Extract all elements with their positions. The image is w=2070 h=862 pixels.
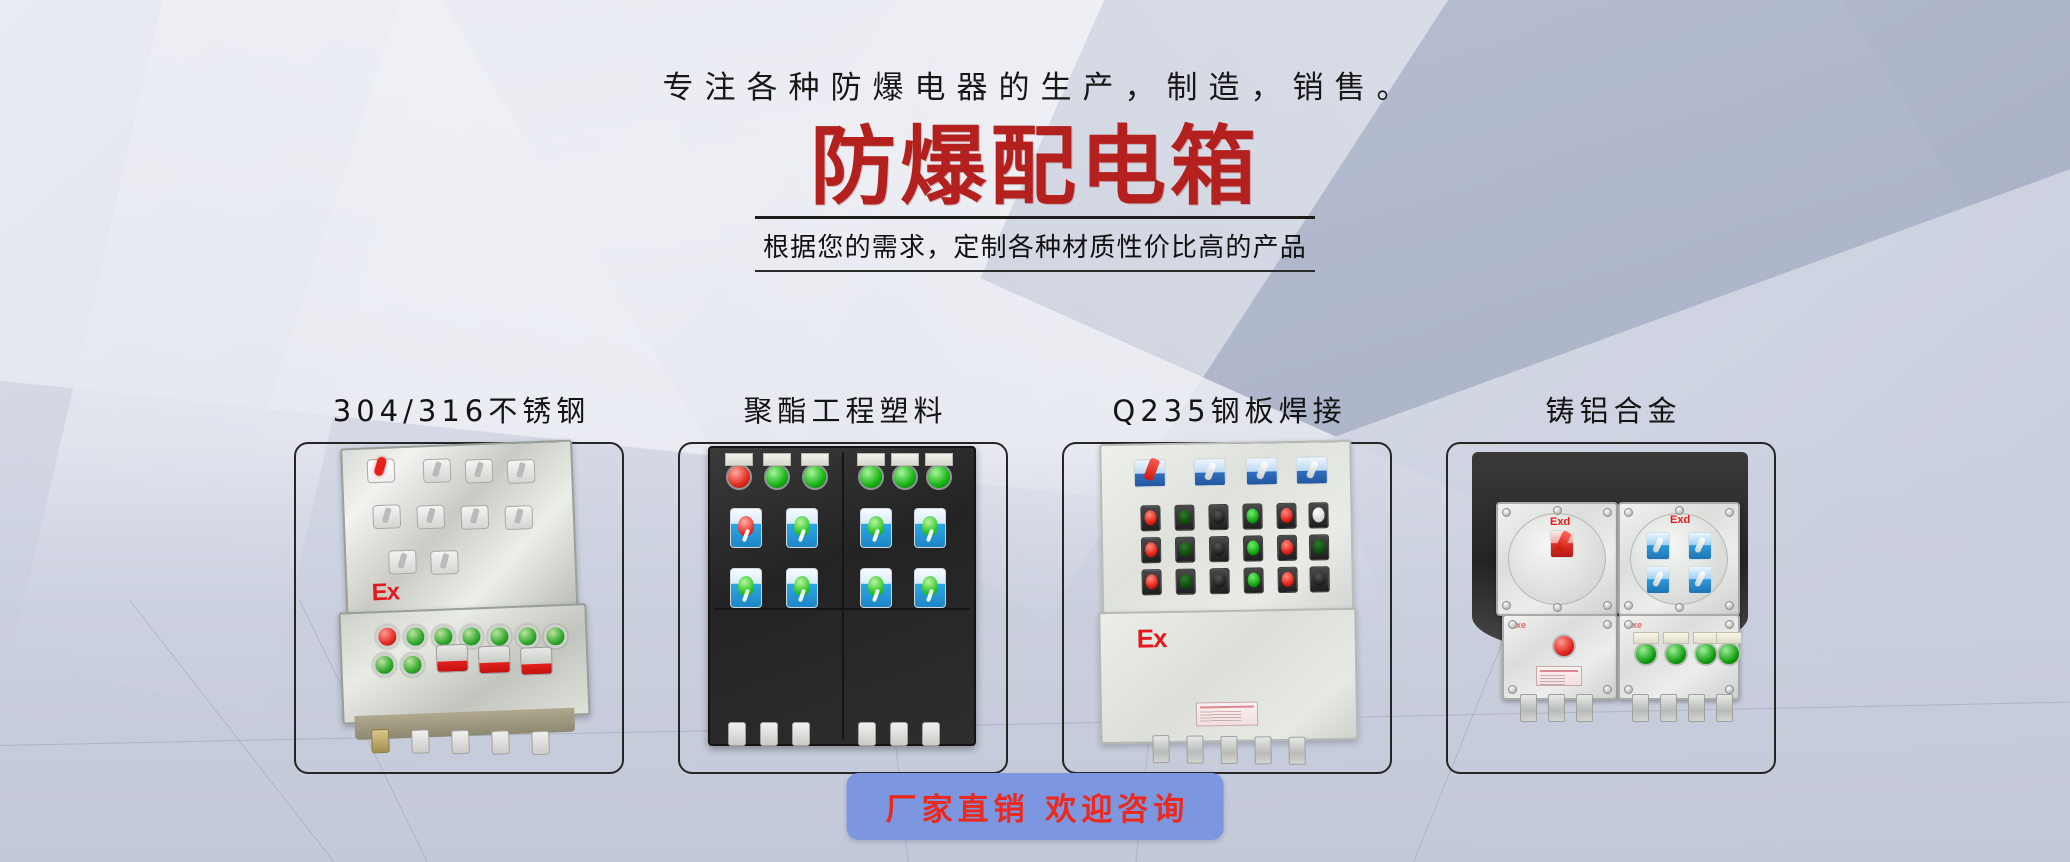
cable-gland xyxy=(531,731,550,756)
switch-plate xyxy=(730,568,762,608)
indicator-lamp xyxy=(726,464,752,490)
rotary-switch-emergency xyxy=(367,458,396,483)
push-button xyxy=(1308,502,1328,528)
rating-nameplate xyxy=(1536,666,1582,686)
subtitle: 根据您的需求，定制各种材质性价比高的产品 xyxy=(755,219,1315,270)
push-button xyxy=(1243,567,1263,593)
push-button xyxy=(1242,503,1262,529)
cta-button[interactable]: 厂家直销 欢迎咨询 xyxy=(847,773,1224,840)
cable-gland xyxy=(1186,735,1203,763)
cable-gland xyxy=(1152,735,1169,763)
switch-plate xyxy=(860,508,892,548)
enclosure-vertical-seam xyxy=(842,452,844,740)
product-photo-frame: Ex xyxy=(294,442,624,774)
cable-gland xyxy=(760,722,778,746)
cable-gland xyxy=(371,729,390,754)
rotary-switch xyxy=(504,505,533,530)
cable-gland xyxy=(792,722,810,746)
rotary-switch xyxy=(372,504,401,529)
rotary-switch xyxy=(460,505,489,530)
product-photo-frame: Exd Exd xyxy=(1446,442,1776,774)
push-button xyxy=(1141,569,1161,595)
rotary-switch xyxy=(507,459,536,484)
product-photo-q235-steel: Ex xyxy=(1070,438,1384,766)
push-button xyxy=(1277,535,1297,561)
push-button xyxy=(1175,569,1195,595)
push-button xyxy=(1309,566,1329,592)
push-button xyxy=(1140,505,1160,531)
rotary-switch xyxy=(1246,457,1278,486)
indicator-lamp xyxy=(1634,642,1658,666)
product-photo-cast-aluminium: Exd Exd xyxy=(1454,438,1768,766)
rotary-switch xyxy=(416,504,445,529)
cable-gland xyxy=(1288,737,1305,765)
push-button xyxy=(1309,534,1329,560)
page-title: 防爆配电箱 xyxy=(0,120,2070,215)
cable-gland xyxy=(890,722,908,746)
indicator-lamp xyxy=(1552,634,1576,658)
meter-gauge xyxy=(520,646,553,675)
cable-gland xyxy=(1688,694,1705,722)
rotary-switch xyxy=(465,459,494,484)
rotary-switch xyxy=(1646,566,1670,594)
enclosure-module-exd-right: Exd xyxy=(1618,502,1740,616)
push-button xyxy=(1208,504,1228,530)
cable-gland xyxy=(1660,694,1677,722)
product-card-polyester-plastic[interactable]: 聚酯工程塑料 xyxy=(678,388,1008,774)
rotary-switch xyxy=(1688,532,1712,560)
product-label: 聚酯工程塑料 xyxy=(678,388,1008,430)
indicator-lamp xyxy=(892,464,918,490)
enclosure-module-exe-right: Exe xyxy=(1618,614,1740,700)
product-photo-stainless-steel: Ex xyxy=(302,438,616,766)
enclosure-module-exe-left: Exe xyxy=(1502,614,1618,700)
indicator-lamp xyxy=(858,464,884,490)
rotary-switch xyxy=(430,550,459,575)
cable-gland xyxy=(1220,736,1237,764)
product-label: Q235钢板焊接 xyxy=(1062,388,1392,430)
exd-mark: Exd xyxy=(1670,514,1690,526)
product-card-cast-aluminium[interactable]: 铸铝合金 Exd xyxy=(1446,388,1776,774)
switch-plate xyxy=(914,568,946,608)
cable-gland xyxy=(1548,694,1565,722)
push-button xyxy=(1277,567,1297,593)
push-button xyxy=(1209,568,1229,594)
product-card-row: 304/316不锈钢 Ex xyxy=(0,388,2070,774)
product-photo-polyester-plastic xyxy=(686,438,1000,766)
round-cover xyxy=(1630,513,1728,605)
meter-gauge xyxy=(436,644,469,673)
rotary-switch-emergency xyxy=(1134,459,1166,488)
promo-banner: 专注各种防爆电器的生产，制造，销售。 防爆配电箱 根据您的需求，定制各种材质性价… xyxy=(0,0,2070,862)
cable-gland xyxy=(491,730,510,755)
rotary-switch xyxy=(388,550,417,575)
product-photo-frame: Ex xyxy=(1062,442,1392,774)
rotary-switch-emergency xyxy=(1550,530,1574,558)
switch-plate xyxy=(786,568,818,608)
exd-mark: Exd xyxy=(1550,516,1570,528)
indicator-lamp xyxy=(764,464,790,490)
push-button xyxy=(1209,536,1229,562)
subtitle-rule-bottom xyxy=(755,270,1315,272)
switch-plate xyxy=(730,508,762,548)
cable-gland xyxy=(1520,694,1537,722)
rotary-switch xyxy=(1688,566,1712,594)
push-button xyxy=(1243,535,1263,561)
rotary-switch xyxy=(1296,456,1328,485)
product-photo-frame xyxy=(678,442,1008,774)
rotary-switch xyxy=(1194,458,1226,487)
cable-gland xyxy=(411,729,430,754)
cable-gland xyxy=(858,722,876,746)
product-card-q235-steel[interactable]: Q235钢板焊接 xyxy=(1062,388,1392,774)
push-button xyxy=(1276,503,1296,529)
cable-gland xyxy=(451,730,470,755)
subtitle-block: 根据您的需求，定制各种材质性价比高的产品 xyxy=(755,216,1315,272)
indicator-lamp xyxy=(802,464,828,490)
enclosure-module-exd-left: Exd xyxy=(1496,502,1618,616)
indicator-lamp xyxy=(1664,642,1688,666)
switch-plate xyxy=(786,508,818,548)
rotary-switch xyxy=(1646,532,1670,560)
product-label: 304/316不锈钢 xyxy=(294,388,624,430)
cable-gland xyxy=(922,722,940,746)
ex-mark: Ex xyxy=(1136,623,1166,655)
cable-gland xyxy=(1716,694,1733,722)
meter-gauge xyxy=(478,645,511,674)
cable-gland xyxy=(1576,694,1593,722)
indicator-lamp xyxy=(1694,642,1718,666)
cable-gland xyxy=(1254,736,1271,764)
push-button xyxy=(1141,537,1161,563)
product-card-stainless-steel[interactable]: 304/316不锈钢 Ex xyxy=(294,388,624,774)
rotary-switch xyxy=(423,458,452,483)
ex-mark: Ex xyxy=(371,578,399,607)
tagline: 专注各种防爆电器的生产，制造，销售。 xyxy=(0,62,2070,107)
cable-gland xyxy=(1632,694,1649,722)
enclosure-horizontal-seam xyxy=(714,608,970,610)
switch-plate xyxy=(914,508,946,548)
rating-nameplate xyxy=(1196,701,1258,726)
push-button xyxy=(1175,537,1195,563)
cable-gland xyxy=(728,722,746,746)
switch-plate xyxy=(860,568,892,608)
indicator-lamp xyxy=(926,464,952,490)
cta-button-label: 厂家直销 欢迎咨询 xyxy=(881,784,1190,829)
product-label: 铸铝合金 xyxy=(1446,388,1776,430)
push-button xyxy=(1174,505,1194,531)
indicator-lamp xyxy=(1717,642,1741,666)
